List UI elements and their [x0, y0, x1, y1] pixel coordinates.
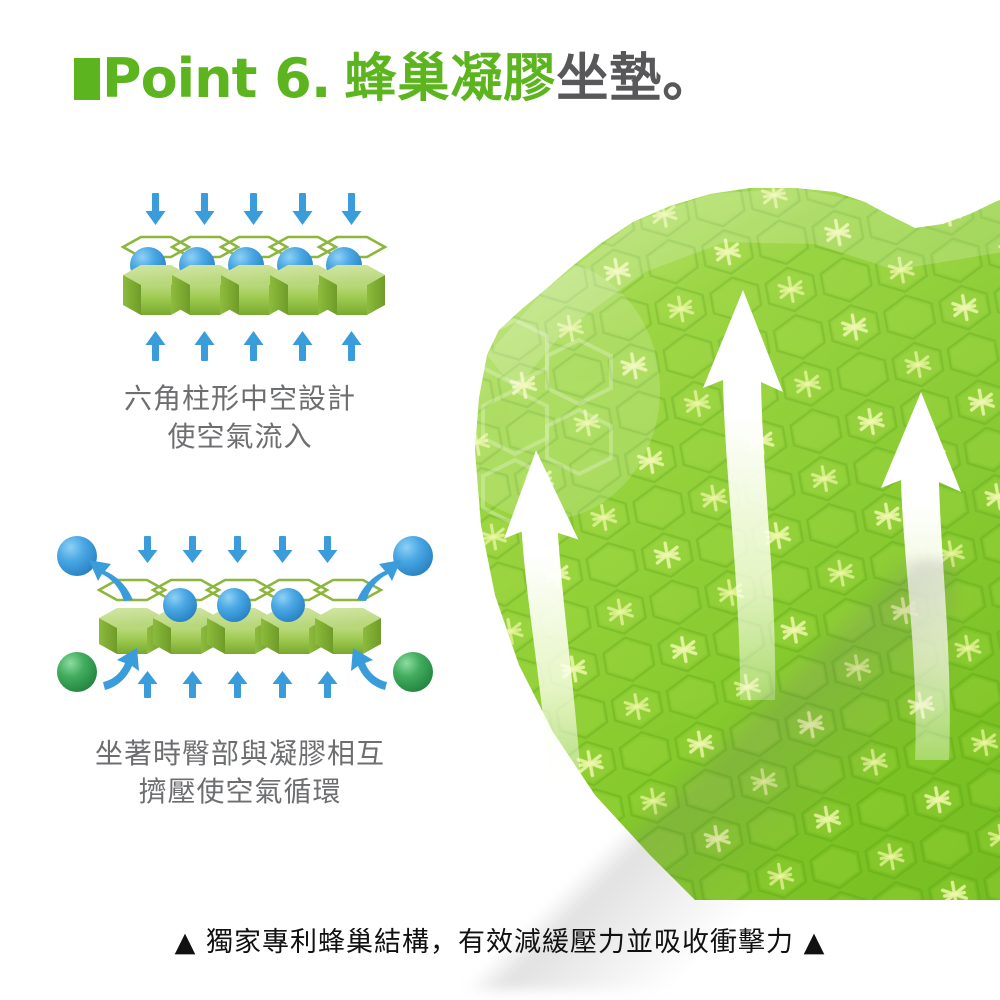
gel-compression-circulation-diagram [55, 530, 435, 710]
incoming-air-sphere-left [57, 652, 97, 692]
footer-note: ▲ 獨家專利蜂巢結構，有效減緩壓力並吸收衝擊力 ▲ [0, 920, 1000, 959]
diagram-2-caption: 坐著時臀部與凝膠相互 擠壓使空氣循環 [30, 735, 450, 811]
escaping-air-sphere-left [57, 536, 97, 576]
page-title: Point 6. 蜂巢凝膠 坐墊。 [74, 52, 715, 106]
compressed-air-sphere-group [163, 588, 305, 622]
hexagonal-cell-group [123, 265, 385, 315]
diagram-2-caption-line-1: 坐著時臀部與凝膠相互 [30, 735, 450, 773]
pressure-down-arrows [138, 536, 338, 563]
diagram-1-caption-line-1: 六角柱形中空設計 [40, 380, 440, 418]
product-feature-slide: Point 6. 蜂巢凝膠 坐墊。 [0, 0, 1000, 1000]
title-highlight: 蜂巢凝膠 [344, 53, 556, 105]
title-subject: 坐墊。 [556, 53, 715, 105]
hexagon-hollow-airflow-diagram [115, 185, 435, 365]
diagram-1-caption-line-2: 使空氣流入 [40, 418, 440, 456]
airflow-up-arrows [146, 331, 362, 361]
pressure-down-arrows [146, 193, 362, 225]
honeycomb-gel-cushion-photo [395, 140, 1000, 900]
square-bullet-icon [74, 58, 100, 100]
diagram-2-caption-line-2: 擠壓使空氣循環 [30, 773, 450, 811]
diagram-1-caption: 六角柱形中空設計 使空氣流入 [40, 380, 440, 456]
title-english: Point 6. [102, 52, 330, 106]
incoming-air-sphere-right [393, 652, 433, 692]
escaping-air-sphere-right [393, 536, 433, 576]
airflow-up-arrows [138, 671, 338, 698]
